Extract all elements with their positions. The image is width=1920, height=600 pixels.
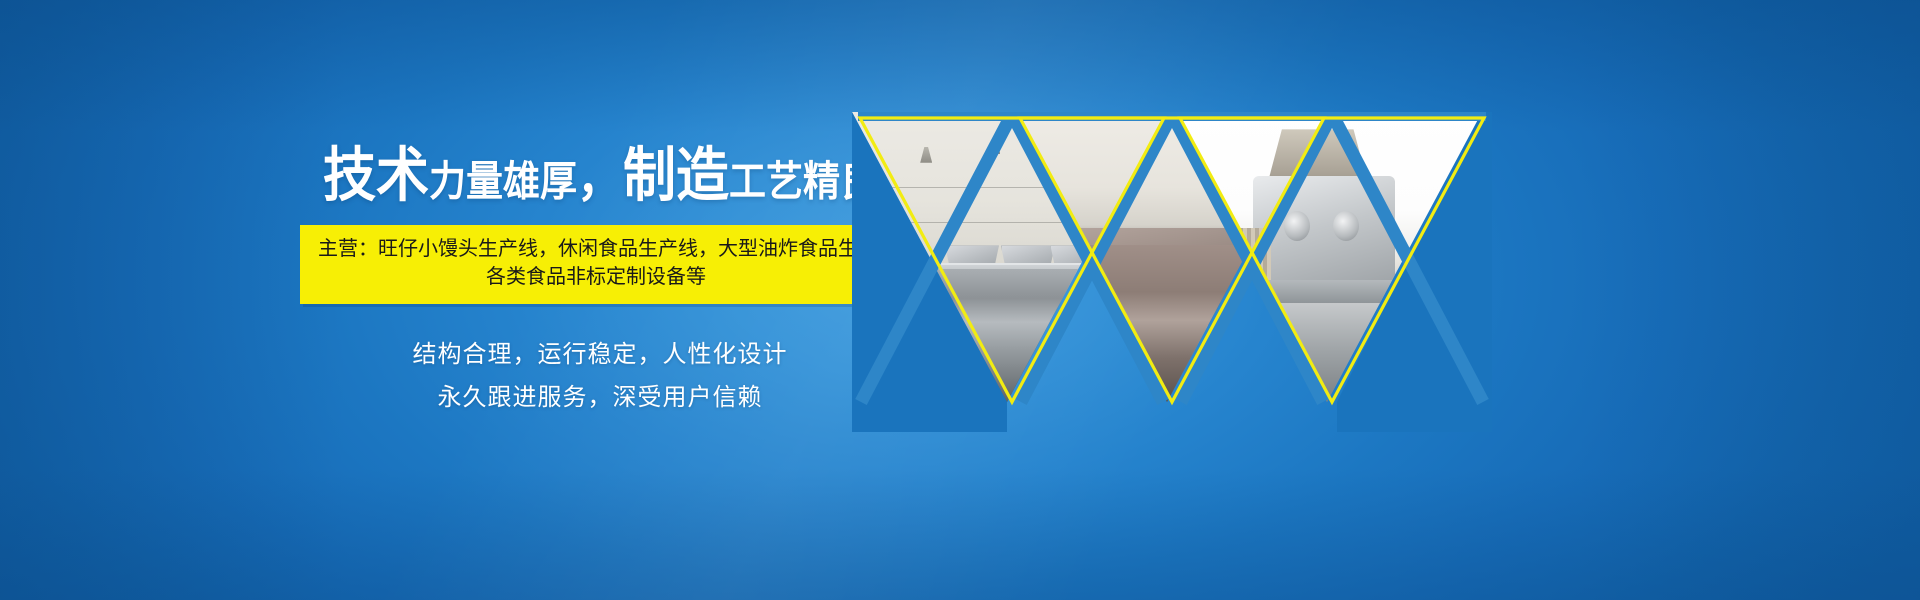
- indicator-button-green: [911, 347, 918, 355]
- machine-hood: [945, 245, 999, 291]
- indicator-button-red: [911, 331, 918, 339]
- headline-part-4: 制造: [623, 143, 729, 209]
- fryer-trough: [1031, 315, 1304, 402]
- control-panel-box: [902, 301, 964, 362]
- machine-disc: [1284, 211, 1310, 241]
- machine-head: [1253, 176, 1396, 292]
- indicator-button-green: [941, 312, 948, 320]
- machine-hood: [1001, 245, 1055, 291]
- ceiling-lamp-icon: [920, 147, 932, 163]
- highlight-line-2: 各类食品非标定制设备等: [318, 263, 874, 291]
- main-business-highlight-box: 主营：旺仔小馒头生产线，休闲食品生产线，大型油炸食品生产线， 各类食品非标定制设…: [300, 225, 892, 304]
- tagline-line-2: 永久跟进服务，深受用户信赖: [300, 377, 900, 420]
- indicator-button-red: [911, 315, 918, 323]
- indicator-button-green: [926, 329, 933, 337]
- fryer-knob: [1155, 263, 1171, 279]
- headline-part-3: ，: [577, 149, 623, 206]
- triangle-photo-gallery: [852, 112, 1492, 432]
- promotional-banner: 技术力量雄厚，制造工艺精良 主营：旺仔小馒头生产线，休闲食品生产线，大型油炸食品…: [0, 0, 1920, 600]
- tagline-line-1: 结构合理，运行稳定，人性化设计: [300, 334, 900, 377]
- banner-headline: 技术力量雄厚，制造工艺精良: [300, 146, 900, 205]
- ceiling-lamp-icon: [988, 138, 1000, 154]
- machine-base: [1172, 303, 1482, 402]
- machine-disc: [1333, 211, 1359, 241]
- headline-part-1: 技术: [323, 143, 429, 209]
- conveyor-belt: [889, 263, 1125, 309]
- banner-tagline: 结构合理，运行稳定，人性化设计 永久跟进服务，深受用户信赖: [300, 334, 900, 419]
- banner-text-column: 技术力量雄厚，制造工艺精良 主营：旺仔小馒头生产线，休闲食品生产线，大型油炸食品…: [300, 146, 900, 419]
- indicator-button-green: [941, 328, 948, 336]
- indicator-button-green: [926, 313, 933, 321]
- headline-part-2: 力量雄厚: [429, 158, 577, 204]
- highlight-line-1: 主营：旺仔小馒头生产线，休闲食品生产线，大型油炸食品生产线，: [318, 235, 874, 263]
